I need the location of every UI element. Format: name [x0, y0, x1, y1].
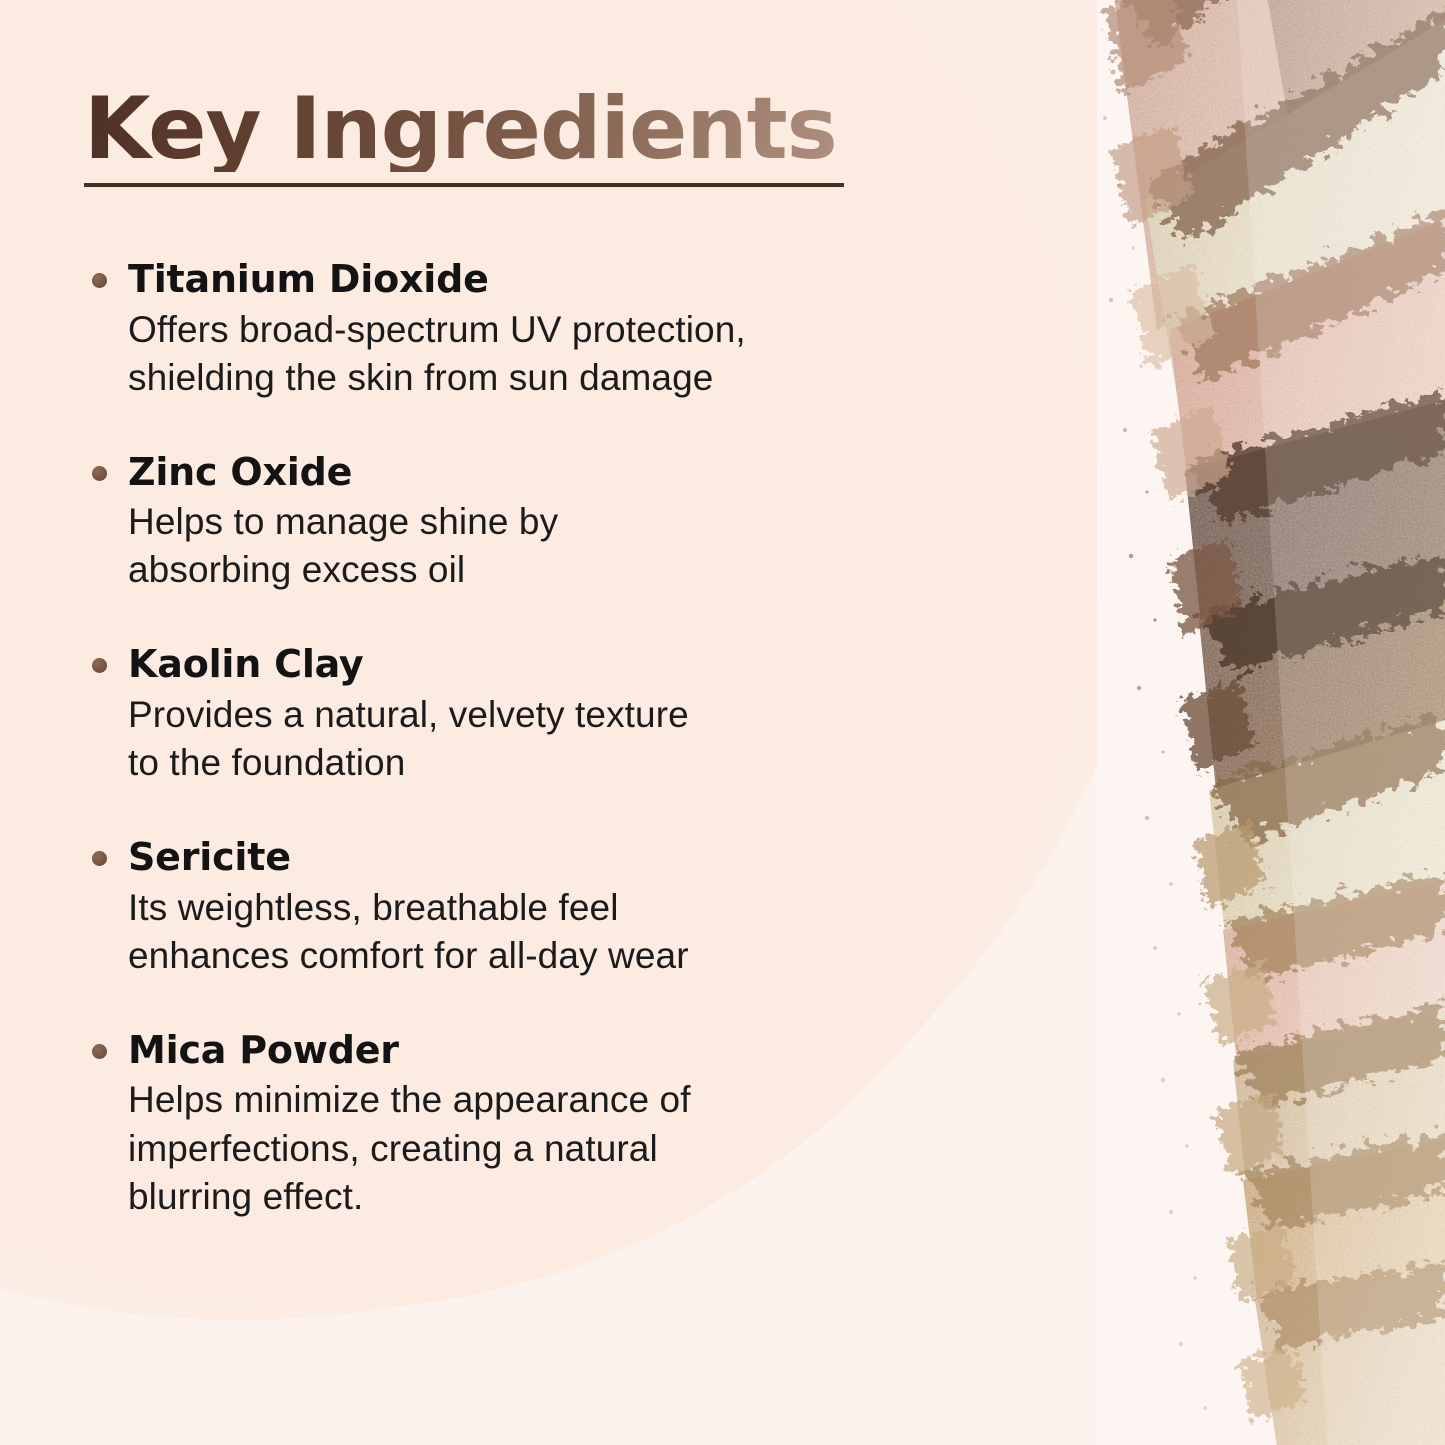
bullet-dot-icon — [92, 1044, 107, 1059]
ingredient-description-line: shielding the skin from sun damage — [128, 354, 1014, 402]
powder-swatch-image — [1097, 0, 1445, 1445]
title-underline — [84, 183, 844, 187]
ingredient-name: Sericite — [128, 836, 1014, 879]
page-title-wrapper: Key Ingredients — [84, 86, 854, 172]
infographic-page: Key Ingredients Titanium Dioxide Offers … — [0, 0, 1445, 1445]
list-item: Sericite Its weightless, breathable feel… — [84, 836, 1014, 980]
ingredient-description-line: imperfections, creating a natural — [128, 1125, 1014, 1173]
ingredient-description-line: Offers broad-spectrum UV protection, — [128, 306, 1014, 354]
ingredient-description: Its weightless, breathable feel enhances… — [128, 884, 1014, 980]
ingredient-description-line: enhances comfort for all-day wear — [128, 932, 1014, 980]
content-column: Key Ingredients Titanium Dioxide Offers … — [0, 0, 1080, 1445]
ingredient-name: Kaolin Clay — [128, 643, 1014, 686]
page-title: Key Ingredients — [84, 86, 854, 172]
list-item: Mica Powder Helps minimize the appearanc… — [84, 1029, 1014, 1221]
ingredient-description: Provides a natural, velvety texture to t… — [128, 691, 1014, 787]
ingredient-description-line: blurring effect. — [128, 1173, 1014, 1221]
ingredient-name: Zinc Oxide — [128, 451, 1014, 494]
ingredients-list: Titanium Dioxide Offers broad-spectrum U… — [84, 258, 1014, 1221]
ingredient-description-line: Its weightless, breathable feel — [128, 884, 1014, 932]
ingredient-description-line: Provides a natural, velvety texture — [128, 691, 1014, 739]
ingredient-description-line: to the foundation — [128, 739, 1014, 787]
ingredient-description-line: Helps minimize the appearance of — [128, 1076, 1014, 1124]
list-item: Kaolin Clay Provides a natural, velvety … — [84, 643, 1014, 787]
bullet-dot-icon — [92, 658, 107, 673]
ingredient-description-line: Helps to manage shine by — [128, 498, 1014, 546]
bullet-dot-icon — [92, 851, 107, 866]
powder-swatch-graphic — [1097, 0, 1445, 1445]
list-item: Zinc Oxide Helps to manage shine by abso… — [84, 451, 1014, 595]
list-item: Titanium Dioxide Offers broad-spectrum U… — [84, 258, 1014, 402]
bullet-dot-icon — [92, 466, 107, 481]
ingredient-name: Mica Powder — [128, 1029, 1014, 1072]
bullet-dot-icon — [92, 273, 107, 288]
ingredient-description: Offers broad-spectrum UV protection, shi… — [128, 306, 1014, 402]
ingredient-description: Helps minimize the appearance of imperfe… — [128, 1076, 1014, 1220]
ingredient-name: Titanium Dioxide — [128, 258, 1014, 301]
ingredient-description: Helps to manage shine by absorbing exces… — [128, 498, 1014, 594]
ingredient-description-line: absorbing excess oil — [128, 546, 1014, 594]
